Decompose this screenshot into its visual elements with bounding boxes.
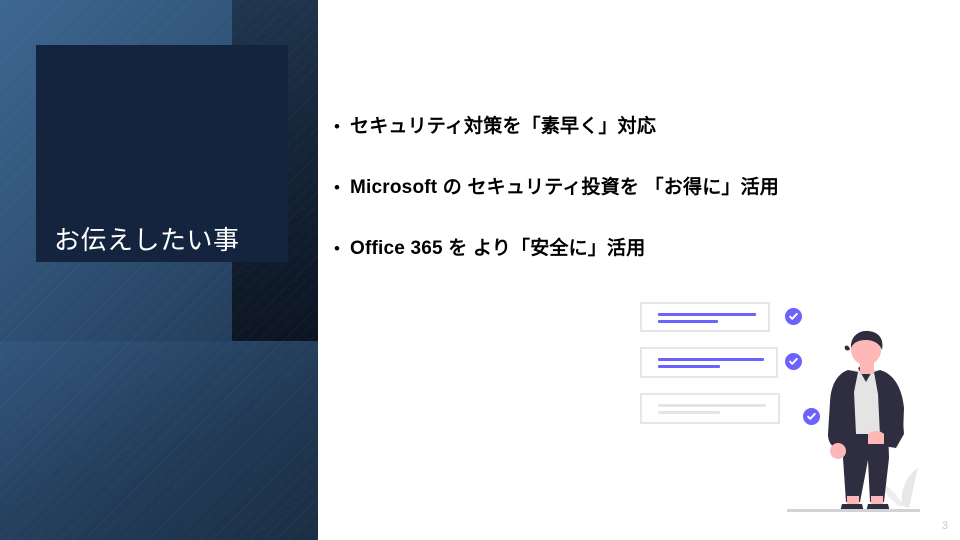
left-decorative-panel: お伝えしたい事 [0, 0, 318, 540]
page-number: 3 [942, 520, 948, 532]
person-illustration [810, 330, 930, 520]
check-badge-icon [785, 353, 802, 370]
bullet-item-1: • セキュリティ対策を「素早く」対応 [334, 112, 934, 142]
bullet-marker-icon: • [334, 173, 350, 203]
card-line-secondary [658, 320, 718, 323]
bullet-marker-icon: • [334, 234, 350, 264]
slide-canvas: お伝えしたい事 • セキュリティ対策を「素早く」対応 • Microsoft の… [0, 0, 960, 540]
task-card [640, 347, 778, 378]
bullet-marker-icon: • [334, 112, 350, 142]
card-line-primary [658, 358, 764, 361]
bullet-text-2: Microsoft の セキュリティ投資を 「お得に」活用 [350, 173, 779, 203]
card-line-secondary [658, 411, 720, 414]
card-line-primary [658, 313, 756, 316]
slide-title: お伝えしたい事 [54, 223, 284, 257]
bullet-text-1: セキュリティ対策を「素早く」対応 [350, 112, 656, 142]
checklist-illustration [630, 290, 960, 540]
bullet-item-2: • Microsoft の セキュリティ投資を 「お得に」活用 [334, 173, 934, 203]
bullet-list: • セキュリティ対策を「素早く」対応 • Microsoft の セキュリティ投… [334, 112, 934, 264]
floor-line [787, 509, 920, 512]
check-badge-icon [803, 408, 820, 425]
task-card [640, 393, 780, 424]
bullet-item-3: • Office 365 を より「安全に」活用 [334, 234, 934, 264]
bullet-text-3: Office 365 を より「安全に」活用 [350, 234, 645, 264]
check-badge-icon [785, 308, 802, 325]
card-line-primary [658, 404, 766, 407]
card-line-secondary [658, 365, 720, 368]
task-card [640, 302, 770, 332]
